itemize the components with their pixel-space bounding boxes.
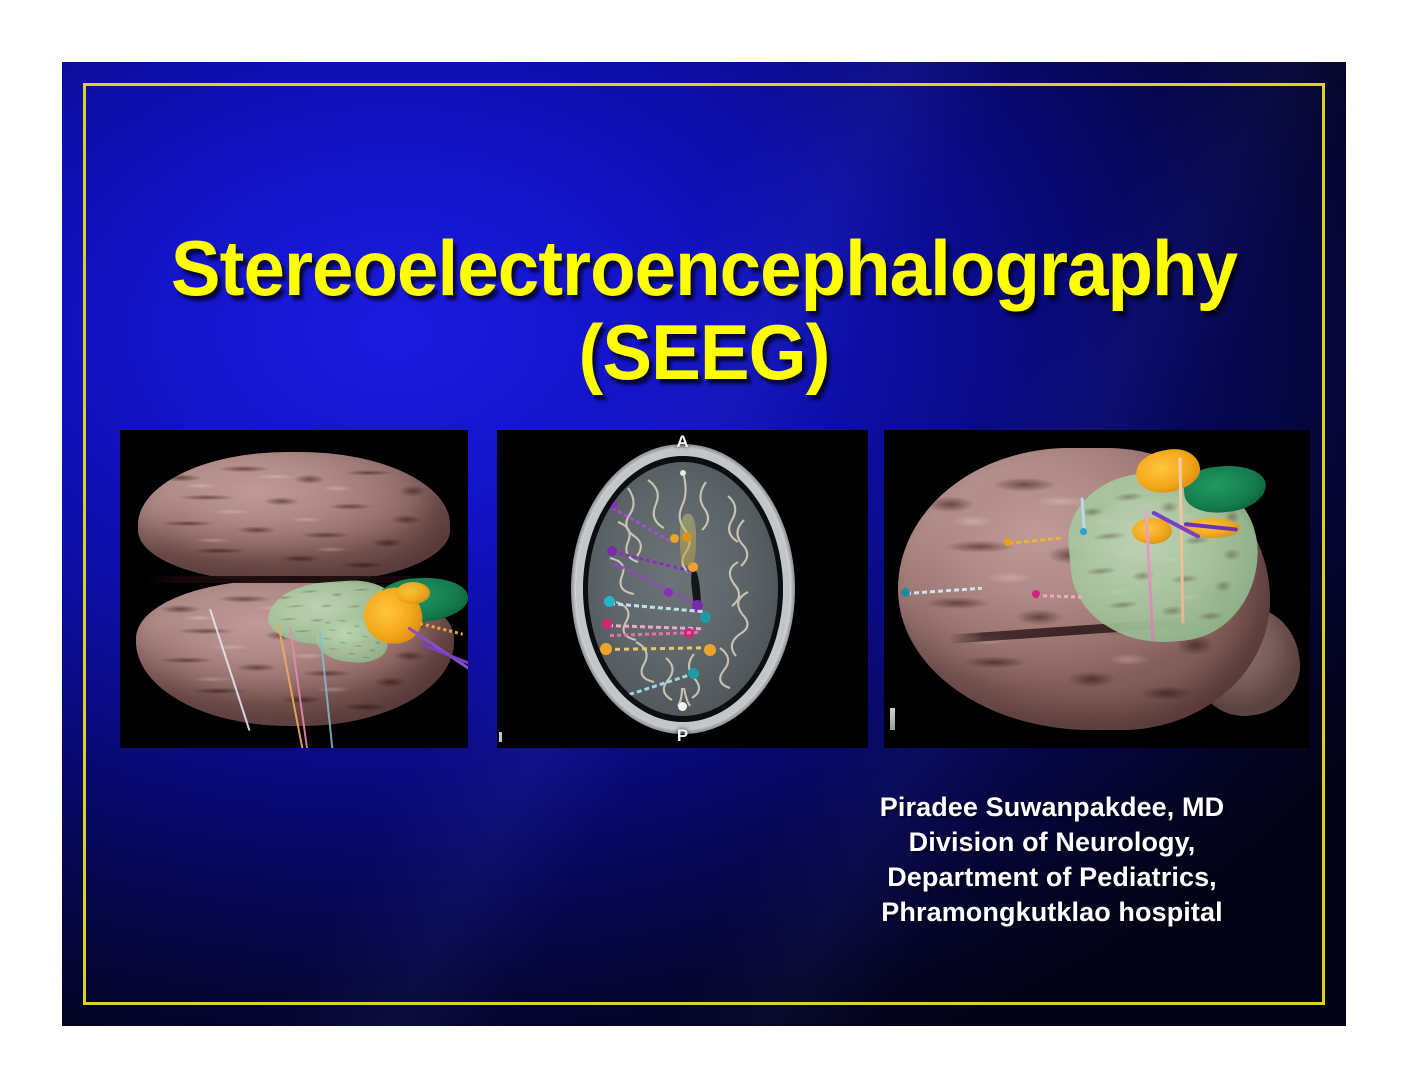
posterior-fiducial-marker xyxy=(678,702,687,711)
figure-axial-ct-mri-slice: A P xyxy=(497,430,868,748)
brain-parenchyma xyxy=(588,462,778,716)
electrode-entry-point xyxy=(602,619,612,629)
electrode-tip-contact xyxy=(1080,528,1087,535)
figure-brain-superior-view xyxy=(120,430,468,748)
author-division: Division of Neurology, xyxy=(782,825,1322,860)
electrode-tip-contact xyxy=(704,644,716,656)
slide-page: Stereoelectroencephalography (SEEG) xyxy=(0,0,1408,1088)
electrode-tip-contact xyxy=(688,668,699,679)
electrode-entry-point xyxy=(1004,538,1012,546)
page-title: Stereoelectroencephalography (SEEG) xyxy=(102,230,1306,391)
zone-orange-secondary xyxy=(396,582,430,604)
anterior-fiducial-marker xyxy=(680,470,686,476)
brain-render-lateral xyxy=(884,430,1310,748)
electrode-entry-point xyxy=(607,546,617,556)
author-department: Department of Pediatrics, xyxy=(782,860,1322,895)
cortex-hemisphere-upper xyxy=(138,452,450,582)
electrode-entry-point xyxy=(901,588,910,597)
electrode-entry-point xyxy=(604,596,615,607)
orientation-label-posterior: P xyxy=(677,727,688,744)
electrode-tip-contact xyxy=(670,534,679,543)
author-name: Piradee Suwanpakdee, MD xyxy=(782,790,1322,825)
presentation-slide: Stereoelectroencephalography (SEEG) xyxy=(62,62,1346,1026)
electrode-entry-point xyxy=(600,643,612,655)
figure-brain-lateral-view xyxy=(884,430,1310,748)
title-line-acronym: (SEEG) xyxy=(129,314,1279,390)
electrode-entry-point xyxy=(608,500,617,509)
scale-marker xyxy=(890,708,895,730)
electrode-tip-contact xyxy=(700,612,711,623)
scale-tick-mark xyxy=(499,732,502,742)
electrode-entry-point xyxy=(610,694,620,704)
author-institution: Phramongkutklao hospital xyxy=(782,895,1322,930)
author-affiliation-block: Piradee Suwanpakdee, MD Division of Neur… xyxy=(782,790,1322,930)
brain-render-superior xyxy=(120,430,468,748)
electrode-tip-contact xyxy=(682,532,692,542)
electrode-contact xyxy=(664,588,673,597)
electrode-contact xyxy=(1032,590,1040,598)
gyral-highlight-icon xyxy=(138,452,450,582)
orientation-label-anterior: A xyxy=(676,433,688,450)
figure-row: A P xyxy=(120,430,1310,750)
title-line-primary: Stereoelectroencephalography xyxy=(129,230,1279,306)
